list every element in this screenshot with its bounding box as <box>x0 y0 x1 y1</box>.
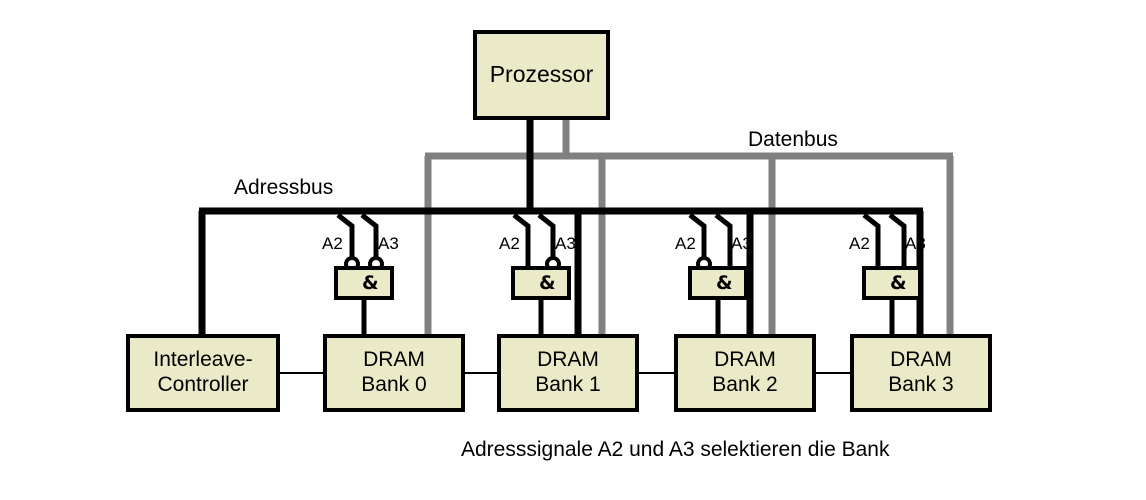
dram-bank-2-box[interactable] <box>676 336 814 410</box>
signal-label-a3-bank3: A3 <box>905 234 926 254</box>
switch-blade-a3-bank2 <box>716 215 730 268</box>
signal-label-a3-bank1: A3 <box>555 234 576 254</box>
switch-blade-a3-bank0 <box>362 215 376 258</box>
address-bus-label: Adressbus <box>234 176 333 200</box>
signal-label-a2-bank0: A2 <box>322 234 343 254</box>
and-gate-symbol-bank3: & <box>890 274 907 293</box>
data-bus-label: Datenbus <box>748 128 838 152</box>
switch-blade-a3-bank1 <box>539 215 553 258</box>
and-gate-symbol-bank0: & <box>362 274 379 293</box>
dram-bank-1-box[interactable] <box>499 336 637 410</box>
processor-box[interactable] <box>475 32 608 118</box>
signal-label-a3-bank2: A3 <box>731 234 752 254</box>
signal-label-a2-bank3: A2 <box>849 234 870 254</box>
and-gate-symbol-bank1: & <box>539 274 556 293</box>
diagram-canvas: Prozessor Interleave- Controller DRAM Ba… <box>0 0 1146 500</box>
interleave-controller-box[interactable] <box>128 336 278 410</box>
and-gate-symbol-bank2: & <box>716 274 733 293</box>
dram-bank-0-box[interactable] <box>325 336 463 410</box>
signal-label-a2-bank2: A2 <box>675 234 696 254</box>
dram-bank-3-box[interactable] <box>852 336 990 410</box>
switch-blade-a3-bank3 <box>890 215 904 268</box>
data-bus-group <box>425 118 953 340</box>
diagram-caption: Adresssignale A2 und A3 selektieren die … <box>461 438 889 462</box>
signal-label-a3-bank0: A3 <box>378 234 399 254</box>
signal-label-a2-bank1: A2 <box>499 234 520 254</box>
